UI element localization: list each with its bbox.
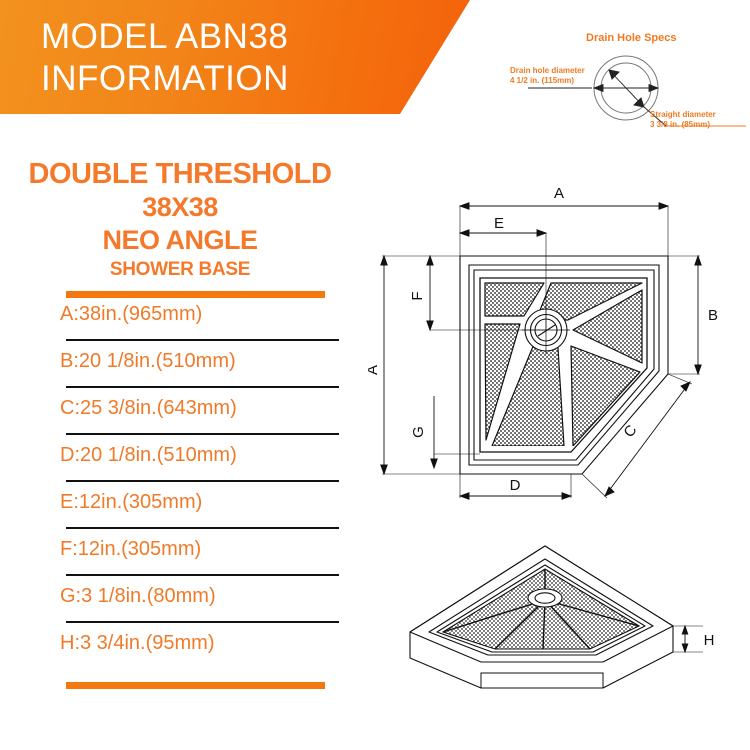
drain-hole-spec-block: Drain Hole Specs Drain hole diameter 4 1…	[470, 26, 750, 146]
dim-label-f: F	[409, 291, 426, 300]
product-title-block: DOUBLE THRESHOLD 38X38 NEO ANGLE SHOWER …	[0, 157, 360, 283]
spec-divider	[66, 574, 339, 576]
spec-divider	[66, 480, 339, 482]
spec-value-c: C:25 3/8in.(643mm)	[60, 397, 237, 420]
spec-divider	[66, 386, 339, 388]
list-item: F:12in.(305mm)	[52, 533, 342, 580]
list-item: H:3 3/4in.(95mm)	[52, 627, 342, 674]
product-title-line-2: 38X38	[0, 191, 360, 224]
straight-diameter-label: Straight diameter 3 3/8 in. (85mm)	[650, 110, 716, 130]
spec-value-g: G:3 1/8in.(80mm)	[60, 585, 216, 608]
dim-label-a-left: A	[368, 365, 381, 375]
floor-panel	[485, 283, 544, 316]
list-item: G:3 1/8in.(80mm)	[52, 580, 342, 627]
dim-line-c	[605, 382, 690, 496]
spec-value-f: F:12in.(305mm)	[60, 538, 201, 561]
straight-diameter-arrow-head-top	[609, 70, 619, 79]
dim-label-b: B	[708, 307, 718, 324]
iso-view-drawing: H	[385, 540, 735, 730]
textured-floor-panels	[485, 283, 642, 446]
spec-value-h: H:3 3/4in.(95mm)	[60, 632, 215, 655]
list-item: B:20 1/8in.(510mm)	[52, 345, 342, 392]
spec-divider	[66, 433, 339, 435]
list-item: D:20 1/8in.(510mm)	[52, 439, 342, 486]
dim-label-d: D	[510, 477, 521, 494]
drain-hole-spec-title: Drain Hole Specs	[586, 32, 676, 44]
list-item: C:25 3/8in.(643mm)	[52, 392, 342, 439]
spec-divider	[66, 621, 339, 623]
product-title-line-1: DOUBLE THRESHOLD	[0, 157, 360, 191]
spec-value-d: D:20 1/8in.(510mm)	[60, 444, 237, 467]
spec-value-e: E:12in.(305mm)	[60, 491, 202, 514]
divider-top	[66, 291, 325, 298]
drain-hole-arrow-left	[594, 85, 603, 92]
divider-bottom	[66, 682, 325, 689]
page-title: MODEL ABN38 INFORMATION	[41, 16, 401, 100]
product-title-line-4: SHOWER BASE	[0, 257, 360, 283]
dim-line-h	[673, 626, 703, 652]
iso-drain	[528, 589, 562, 607]
drain-hole-arrow-right	[649, 85, 658, 92]
dim-label-e: E	[494, 215, 504, 232]
spec-divider	[66, 339, 339, 341]
list-item: E:12in.(305mm)	[52, 486, 342, 533]
dimension-spec-list: A:38in.(965mm) B:20 1/8in.(510mm) C:25 3…	[52, 298, 342, 674]
dim-label-c: C	[620, 422, 640, 441]
spec-value-a: A:38in.(965mm)	[60, 303, 202, 326]
product-title-line-3: NEO ANGLE	[0, 224, 360, 257]
dim-label-h: H	[704, 632, 715, 649]
dim-label-a-top: A	[554, 185, 564, 202]
straight-diameter-arrow-head-bottom	[634, 98, 644, 107]
dim-label-g: G	[410, 426, 427, 438]
drain-hole-diameter-label: Drain hole diameter 4 1/2 in. (115mm)	[510, 66, 585, 86]
top-view-drawing: A E B A F G D C	[368, 178, 750, 518]
spec-value-b: B:20 1/8in.(510mm)	[60, 350, 236, 373]
spec-divider	[66, 527, 339, 529]
list-item: A:38in.(965mm)	[52, 298, 342, 345]
